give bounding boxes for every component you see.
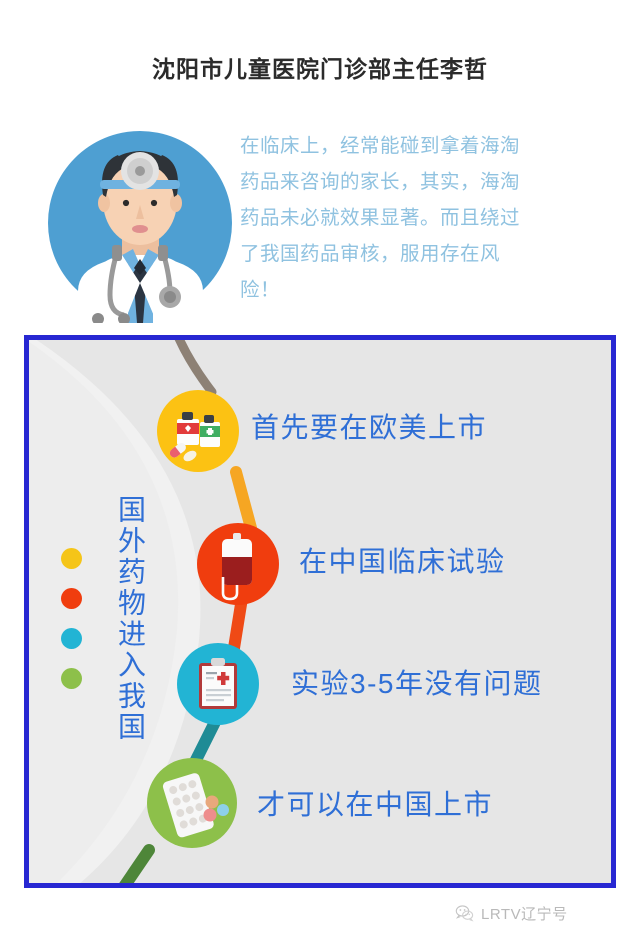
step-2-label: 在中国临床试验 bbox=[299, 540, 506, 580]
doctor-avatar bbox=[48, 123, 233, 323]
doctor-quote: 在临床上，经常能碰到拿着海淘药品来咨询的家长，其实，海淘药品未必就效果显著。而且… bbox=[240, 128, 530, 308]
page-title: 沈阳市儿童医院门诊部主任李哲 bbox=[0, 56, 640, 84]
dot-green bbox=[61, 668, 82, 689]
pill-blister-pack-icon bbox=[147, 758, 237, 848]
step-2-icon-iv-drip bbox=[197, 523, 279, 605]
medicine-bottles-icon bbox=[157, 390, 239, 472]
process-panel: 国外药物进入我国 bbox=[24, 335, 616, 888]
step-4-label: 才可以在中国上市 bbox=[257, 783, 493, 823]
dot-red bbox=[61, 588, 82, 609]
watermark-label: LRTV辽宁号 bbox=[481, 903, 568, 924]
wechat-icon bbox=[455, 904, 474, 923]
vertical-section-label: 国外药物进入我国 bbox=[107, 495, 149, 743]
step-3-icon-clipboard bbox=[177, 643, 259, 725]
step-1-label: 首先要在欧美上市 bbox=[251, 406, 487, 446]
legend-dots bbox=[61, 548, 87, 708]
step-4-icon-pill-pack bbox=[147, 758, 237, 848]
step-1-icon-medicine-bottles bbox=[157, 390, 239, 472]
dot-cyan bbox=[61, 628, 82, 649]
infographic-page: 沈阳市儿童医院门诊部主任李哲 bbox=[0, 0, 640, 943]
dot-yellow bbox=[61, 548, 82, 569]
clipboard-medical-icon bbox=[177, 643, 259, 725]
step-3-label: 实验3-5年没有问题 bbox=[291, 662, 542, 702]
doctor-illustration-svg bbox=[48, 123, 233, 323]
iv-drip-bag-icon bbox=[197, 523, 279, 605]
footer-watermark: LRTV辽宁号 bbox=[455, 903, 568, 924]
